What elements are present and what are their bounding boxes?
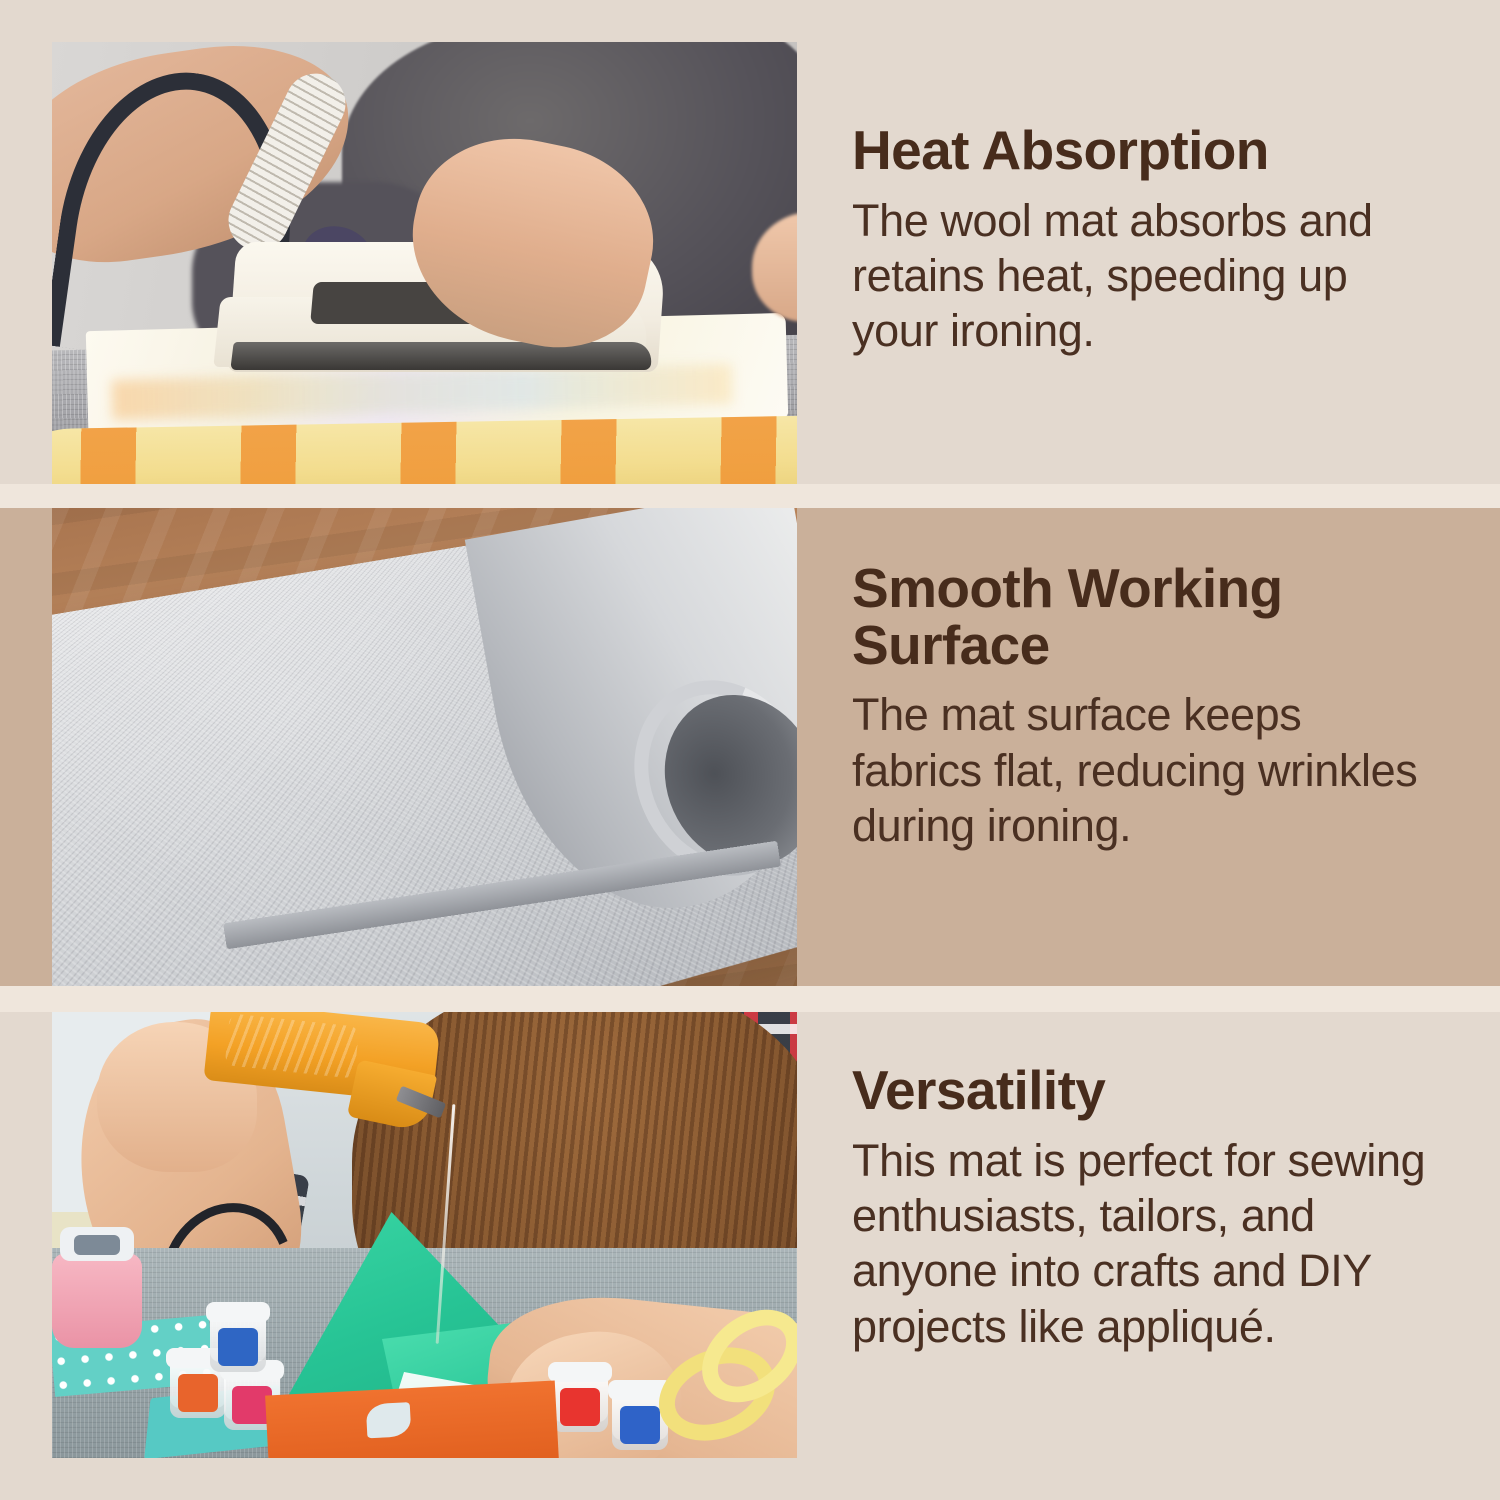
paint-pot-lid bbox=[206, 1302, 270, 1322]
panel-separator-2 bbox=[0, 986, 1500, 1012]
feature-body-versatility: This mat is perfect for sewing enthusias… bbox=[852, 1133, 1432, 1354]
infographic-page: Heat Absorption The wool mat absorbs and… bbox=[0, 0, 1500, 1500]
feature-copy-versatility: Versatility This mat is perfect for sewi… bbox=[852, 1062, 1432, 1354]
pink-paint-jar bbox=[52, 1253, 142, 1348]
feature-image-versatility bbox=[52, 1012, 797, 1458]
feature-copy-smooth-working-surface: Smooth Working Surface The mat surface k… bbox=[852, 560, 1432, 853]
paint-pot-lid bbox=[548, 1362, 612, 1382]
panel-separator-1 bbox=[0, 484, 1500, 508]
feature-heading-heat-absorption: Heat Absorption bbox=[852, 122, 1432, 179]
paint-pot-color bbox=[620, 1406, 660, 1444]
paint-pot-color bbox=[178, 1374, 218, 1412]
feature-heading-versatility: Versatility bbox=[852, 1062, 1432, 1119]
feature-heading-smooth-working-surface: Smooth Working Surface bbox=[852, 560, 1432, 673]
paint-pot bbox=[210, 1312, 266, 1372]
steam-iron-soleplate bbox=[230, 342, 653, 370]
paint-pot bbox=[552, 1372, 608, 1432]
feature-image-heat-absorption bbox=[52, 42, 797, 484]
feature-image-smooth-working-surface bbox=[52, 508, 797, 986]
paint-pot-color bbox=[218, 1328, 258, 1366]
feature-copy-heat-absorption: Heat Absorption The wool mat absorbs and… bbox=[852, 122, 1432, 359]
feature-body-heat-absorption: The wool mat absorbs and retains heat, s… bbox=[852, 193, 1432, 359]
feature-body-smooth-working-surface: The mat surface keeps fabrics flat, redu… bbox=[852, 687, 1432, 853]
paint-pot-color bbox=[560, 1388, 600, 1426]
